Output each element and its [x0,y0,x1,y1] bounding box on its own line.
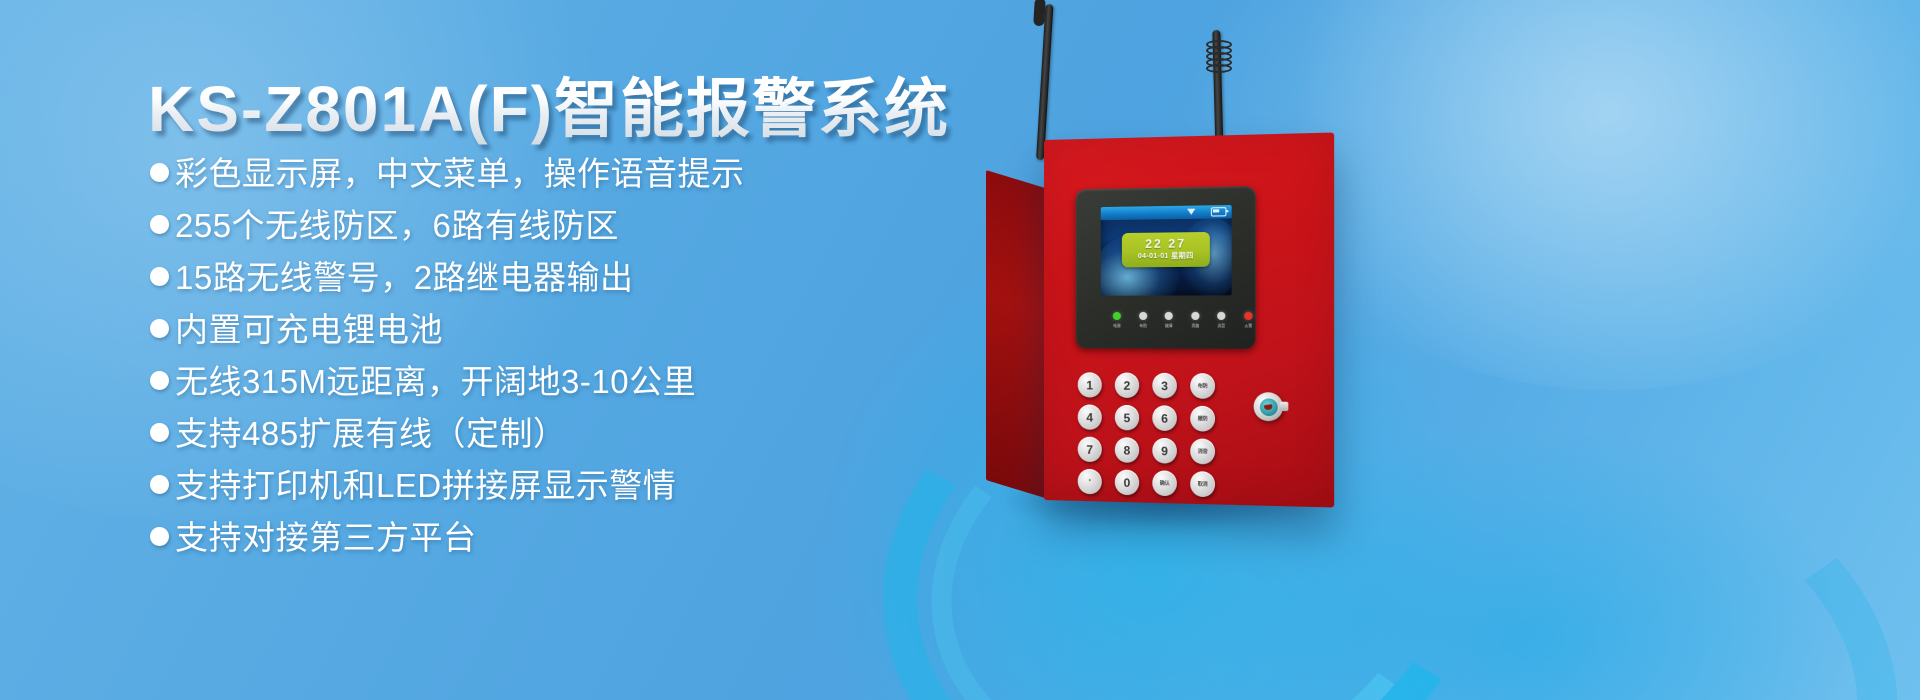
antenna-left-tip-icon [1033,0,1046,26]
led-label: 布防 [1139,323,1147,328]
led-label: 消音 [1218,323,1226,328]
banner-text-block: KS-Z801A(F)智能报警系统 彩色显示屏，中文菜单，操作语音提示 255个… [0,0,960,700]
key-star[interactable]: * [1078,469,1102,495]
lock-tab [1280,402,1288,411]
key-confirm[interactable]: 确认 [1152,470,1177,496]
list-item: 内置可充电锂电池 [150,308,970,352]
bullet-dot-icon [150,371,169,390]
feature-text: 15路无线警号，2路继电器输出 [175,256,634,300]
antenna-coil-icon [1206,40,1228,76]
key-lock-icon[interactable] [1254,392,1283,421]
device-front-face: 22 27 04-01-01 星期四 电源 布防 故障 [1044,132,1334,507]
lcd-time: 22 27 [1145,237,1186,250]
led-indicator: 消音 [1210,312,1233,328]
banner-stage: KS-Z801A(F)智能报警系统 彩色显示屏，中文菜单，操作语音提示 255个… [0,0,1920,700]
list-item: 支持485扩展有线（定制） [150,412,970,456]
bullet-dot-icon [150,319,169,338]
list-item: 无线315M远距离，开阔地3-10公里 [150,360,970,404]
led-lamp-icon [1139,312,1147,320]
key-cancel[interactable]: 取消 [1190,471,1215,497]
key-0[interactable]: 0 [1115,470,1139,496]
feature-text: 支持485扩展有线（定制） [175,412,567,456]
feature-text: 支持对接第三方平台 [175,516,477,560]
led-indicator: 火警 [1237,312,1260,328]
led-label: 旁路 [1191,323,1199,328]
lcd-date: 04-01-01 星期四 [1138,252,1194,263]
led-lamp-icon [1244,312,1252,320]
device-side-panel [986,170,1052,500]
list-item: 15路无线警号，2路继电器输出 [150,256,970,300]
led-indicator: 布防 [1132,312,1154,328]
lcd-status-bar [1101,205,1232,220]
list-item: 支持打印机和LED拼接屏显示警情 [150,464,970,508]
led-indicator-row: 电源 布防 故障 旁路 [1106,312,1260,328]
bullet-dot-icon [150,527,169,546]
led-indicator: 电源 [1106,312,1128,328]
led-lamp-icon [1165,312,1173,320]
feature-text: 255个无线防区，6路有线防区 [175,204,619,248]
bullet-dot-icon [150,215,169,234]
list-item: 支持对接第三方平台 [150,516,970,560]
key-7[interactable]: 7 [1078,437,1102,463]
led-label: 电源 [1113,323,1121,328]
led-label: 故障 [1165,323,1173,328]
signal-icon [1187,208,1196,216]
key-3[interactable]: 3 [1152,373,1177,399]
feature-list: 彩色显示屏，中文菜单，操作语音提示 255个无线防区，6路有线防区 15路无线警… [150,152,970,568]
feature-text: 无线315M远距离，开阔地3-10公里 [175,360,696,404]
key-mute[interactable]: 消音 [1190,438,1215,464]
bullet-dot-icon [150,267,169,286]
antenna-left-icon [1036,4,1054,160]
page-title: KS-Z801A(F)智能报警系统 [148,58,950,150]
key-4[interactable]: 4 [1078,404,1102,429]
led-indicator: 旁路 [1184,312,1207,328]
key-6[interactable]: 6 [1152,405,1177,431]
feature-text: 支持打印机和LED拼接屏显示警情 [175,464,676,508]
key-8[interactable]: 8 [1115,437,1139,463]
led-label: 火警 [1244,323,1252,328]
lock-keyhole [1264,404,1273,410]
keypad[interactable]: 1 2 3 布防 4 5 6 撤防 7 8 9 消音 * 0 确认 取消 [1078,372,1220,497]
lcd-screen: 22 27 04-01-01 星期四 [1101,205,1232,296]
led-indicator: 故障 [1158,312,1181,328]
feature-text: 彩色显示屏，中文菜单，操作语音提示 [175,152,745,196]
key-disarm[interactable]: 撤防 [1190,406,1215,432]
bullet-dot-icon [150,163,169,182]
bullet-dot-icon [150,423,169,442]
key-arm[interactable]: 布防 [1190,373,1215,399]
led-lamp-icon [1113,312,1121,320]
list-item: 彩色显示屏，中文菜单，操作语音提示 [150,152,970,196]
key-5[interactable]: 5 [1115,405,1139,431]
display-bezel: 22 27 04-01-01 星期四 电源 布防 故障 [1076,186,1256,349]
bullet-dot-icon [150,475,169,494]
led-lamp-icon [1217,312,1225,320]
led-lamp-icon [1191,312,1199,320]
key-2[interactable]: 2 [1115,373,1139,399]
key-1[interactable]: 1 [1078,372,1102,397]
battery-icon [1211,207,1227,216]
alarm-panel-device: 22 27 04-01-01 星期四 电源 布防 故障 [960,0,1920,700]
key-9[interactable]: 9 [1152,438,1177,464]
lock-cylinder [1259,398,1277,416]
lcd-datetime-card: 22 27 04-01-01 星期四 [1122,232,1210,267]
feature-text: 内置可充电锂电池 [175,308,443,352]
list-item: 255个无线防区，6路有线防区 [150,204,970,248]
